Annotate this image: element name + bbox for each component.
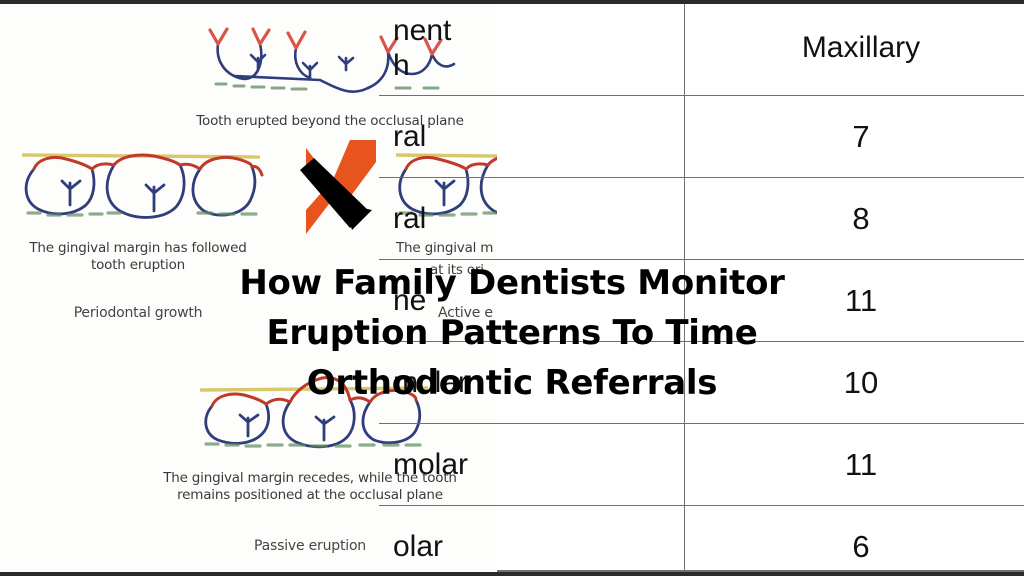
tooth-figure-gingival-followed — [8, 143, 270, 235]
header-cell-maxillary: Maxillary — [685, 1, 1024, 96]
cell-maxillary: 10 — [685, 342, 1024, 424]
screenshot-root: Tooth erupted beyond the occlusal plane — [0, 0, 1024, 576]
cell-tooth: molar — [379, 342, 685, 424]
table-row: molar 11 — [379, 424, 1024, 506]
brand-logo — [292, 138, 388, 248]
cell-tooth: ne — [379, 260, 685, 342]
eruption-age-table-panel: nent h Maxillary ral 7 ral 8 ne 11 molar — [497, 0, 1024, 576]
cell-maxillary: 11 — [685, 260, 1024, 342]
tooth-diagram-svg — [8, 143, 270, 235]
cell-maxillary: 11 — [685, 424, 1024, 506]
logo-black-arrow — [344, 204, 372, 230]
cell-tooth: ral — [379, 178, 685, 260]
table-row: ral 8 — [379, 178, 1024, 260]
table-row: ne 11 — [379, 260, 1024, 342]
top-frame-bar — [0, 0, 1024, 4]
caption-gingival-followed: The gingival margin has followed tooth e… — [0, 240, 276, 274]
tooth-eruption-age-table: nent h Maxillary ral 7 ral 8 ne 11 molar — [379, 0, 1024, 576]
header-cell-tooth: nent h — [379, 1, 685, 96]
table-row: ral 7 — [379, 96, 1024, 178]
cell-maxillary: 6 — [685, 506, 1024, 576]
table-row: olar 6 — [379, 506, 1024, 576]
cell-maxillary: 7 — [685, 96, 1024, 178]
cell-tooth: molar — [379, 424, 685, 506]
bottom-frame-bar — [0, 572, 1024, 576]
brand-logo-icon — [292, 138, 388, 248]
table-header-row: nent h Maxillary — [379, 1, 1024, 96]
caption-periodontal-growth: Periodontal growth — [0, 305, 276, 323]
cell-tooth: ral — [379, 96, 685, 178]
cell-maxillary: 8 — [685, 178, 1024, 260]
cell-tooth: olar — [379, 506, 685, 576]
table-row: molar 10 — [379, 342, 1024, 424]
